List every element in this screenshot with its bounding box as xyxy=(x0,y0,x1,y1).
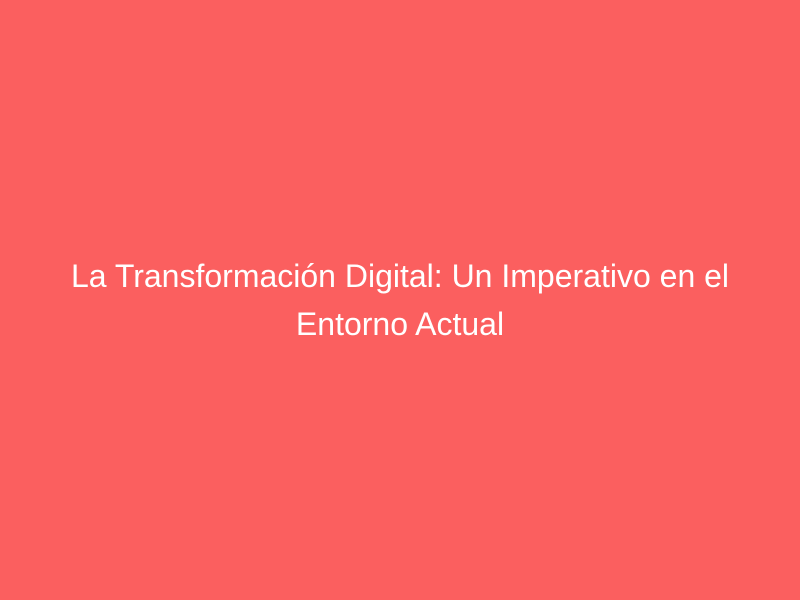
hero-title-card: La Transformación Digital: Un Imperativo… xyxy=(0,0,800,600)
page-title: La Transformación Digital: Un Imperativo… xyxy=(48,252,752,348)
